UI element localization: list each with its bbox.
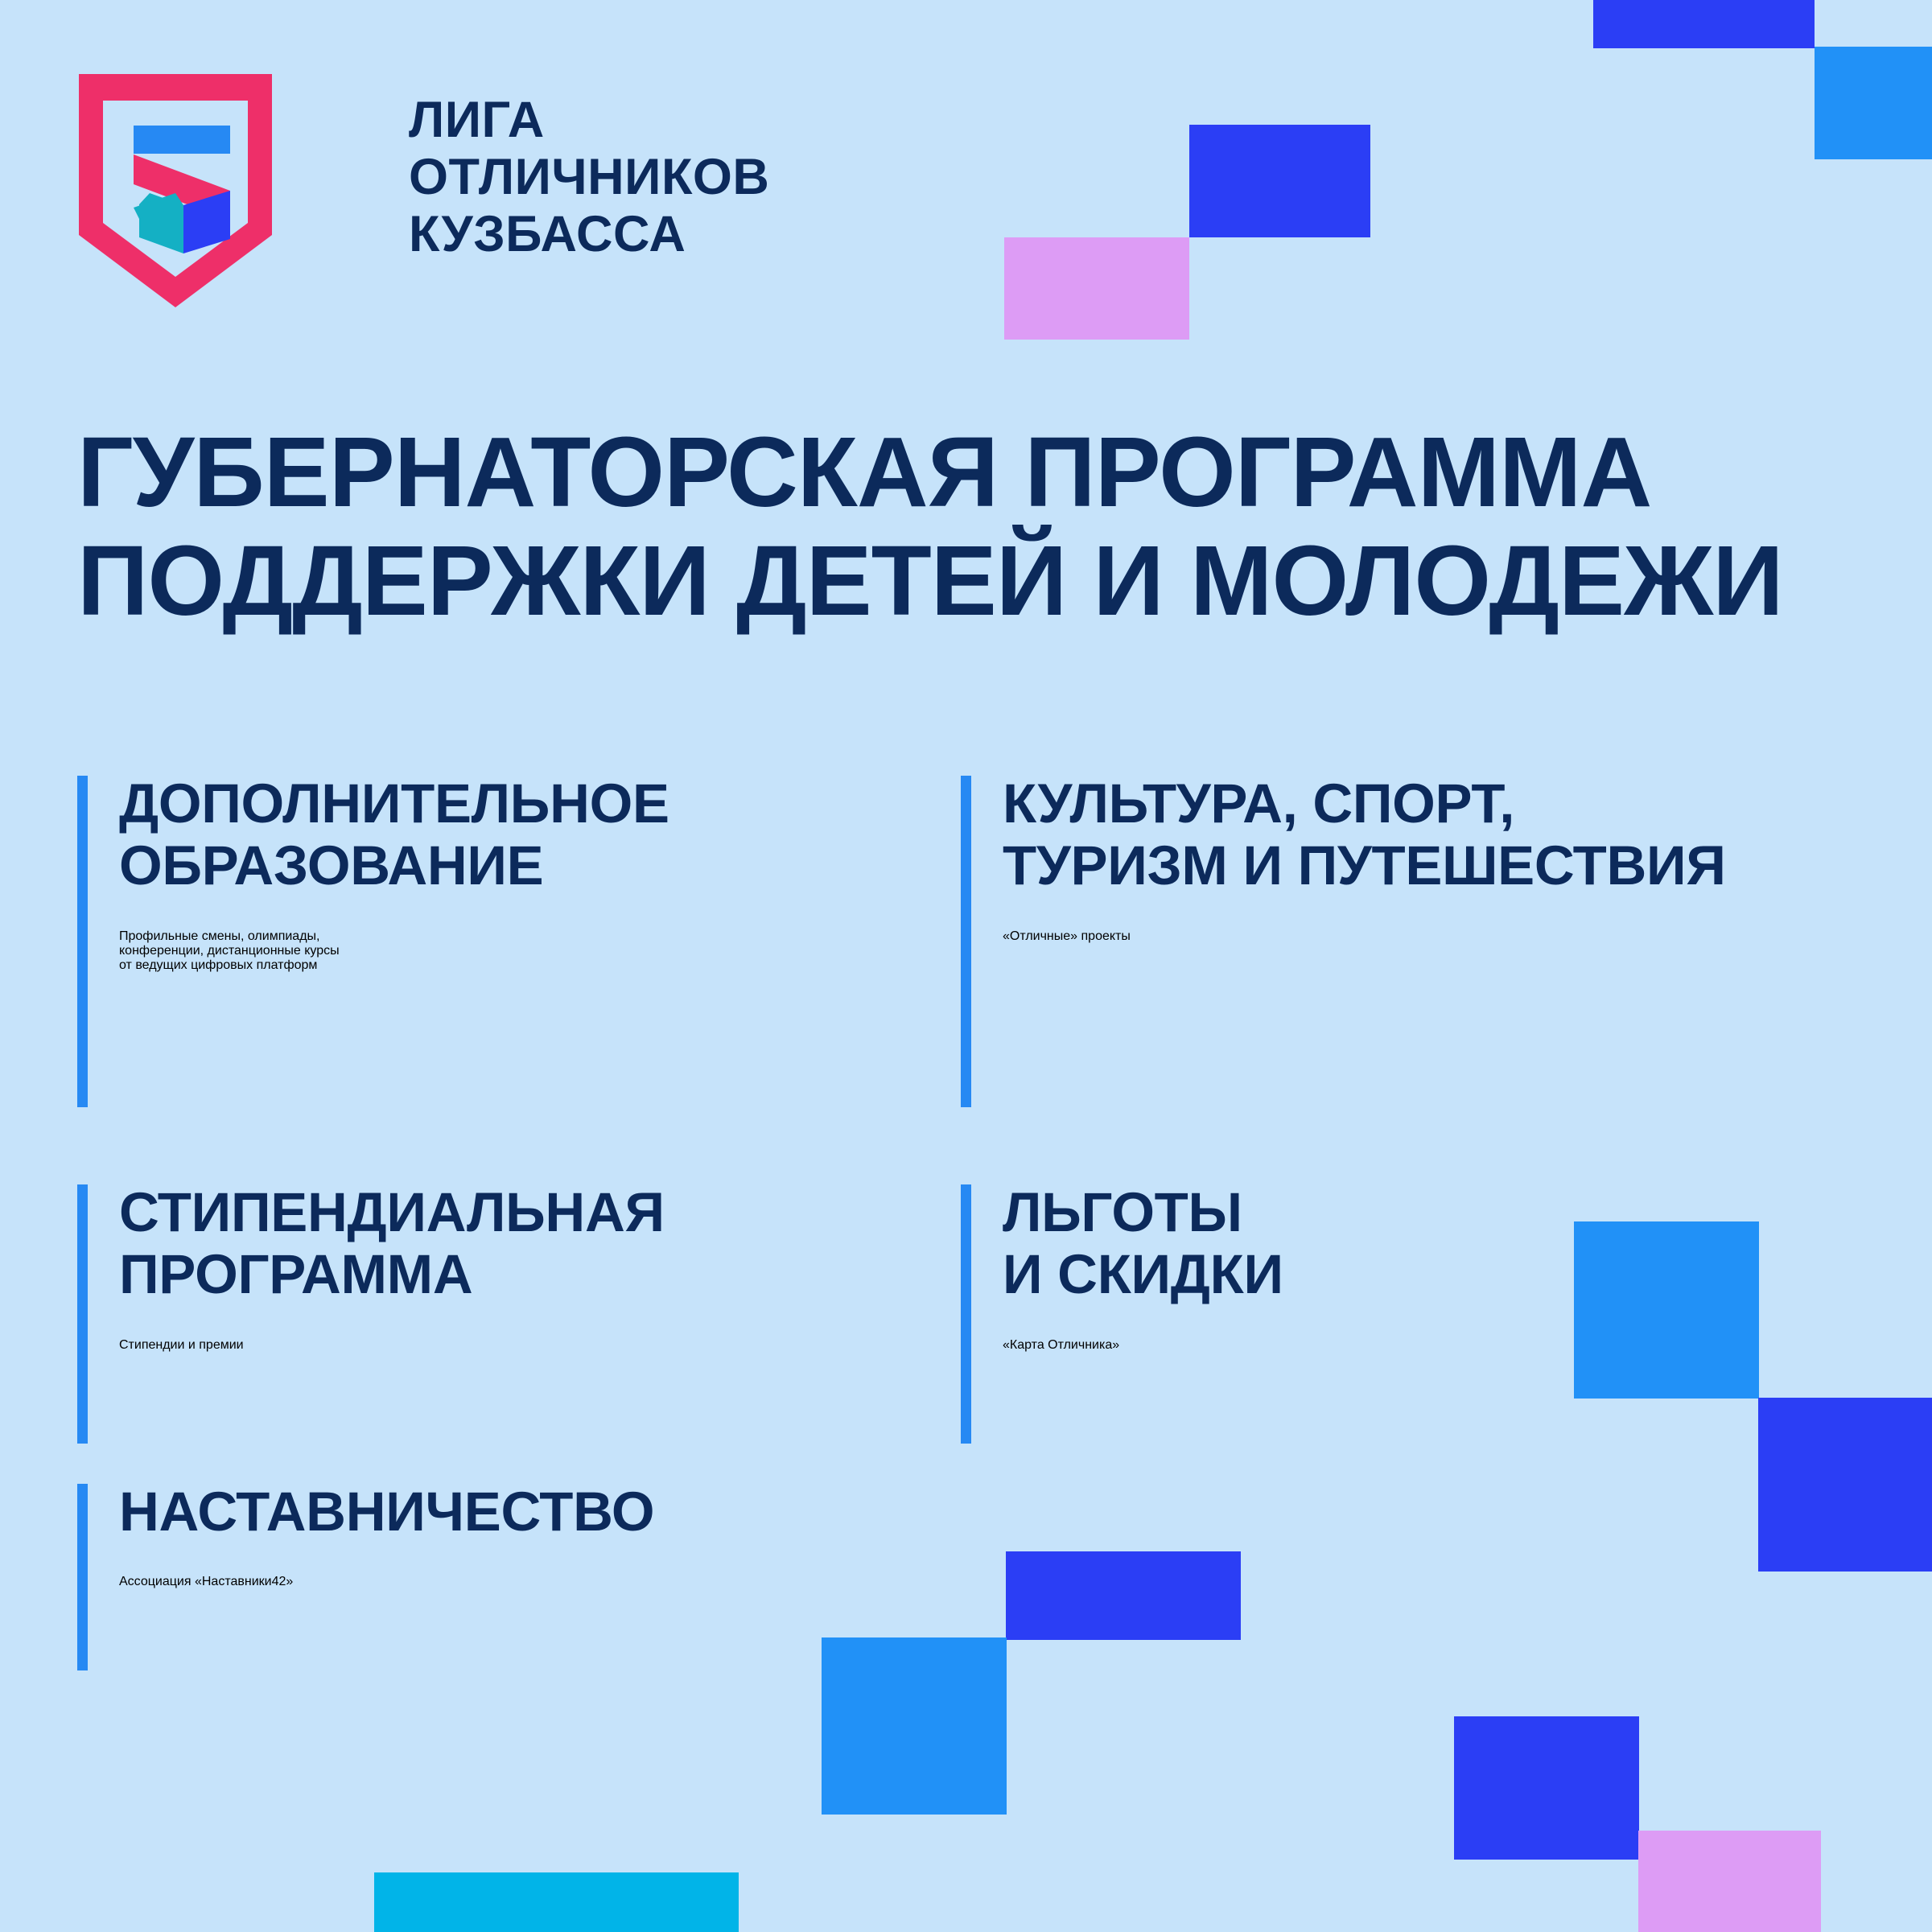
section-culture: КУЛЬТУРА, СПОРТ, ТУРИЗМ И ПУТЕШЕСТВИЯ «О… [961, 772, 1912, 1110]
accent-bar-icon [961, 1184, 971, 1444]
deco-royal-bottom-right [1454, 1716, 1639, 1860]
heading-line: ЛЬГОТЫ [1003, 1181, 1807, 1243]
poster-root: ЛИГА ОТЛИЧНИКОВ КУЗБАССА ГУБЕРНАТОРСКАЯ … [0, 0, 1932, 1932]
heading-line: СТИПЕНДИАЛЬНАЯ [119, 1181, 940, 1243]
page-title-line-2: ПОДДЕРЖКИ ДЕТЕЙ И МОЛОДЕЖИ [77, 527, 1872, 636]
accent-bar-icon [77, 776, 88, 1107]
accent-bar-icon [961, 776, 971, 1107]
body-line: «Отличные» проекты [1003, 929, 1912, 944]
body-line: конференции, дистанционные курсы [119, 944, 940, 958]
heading-line: ТУРИЗМ И ПУТЕШЕСТВИЯ [1003, 834, 1912, 896]
heading-line: И СКИДКИ [1003, 1243, 1807, 1305]
deco-cyan-bottom-left [374, 1872, 739, 1932]
deco-royal-bottom-mid [1006, 1551, 1241, 1640]
section-mentorship-heading: НАСТАВНИЧЕСТВО [119, 1481, 940, 1543]
heading-line: ОБРАЗОВАНИЕ [119, 834, 940, 896]
brand-logo-block: ЛИГА ОТЛИЧНИКОВ КУЗБАССА [79, 74, 769, 307]
accent-bar-icon [77, 1484, 88, 1670]
section-education-heading: ДОПОЛНИТЕЛЬНОЕ ОБРАЗОВАНИЕ [119, 772, 940, 897]
brand-name: ЛИГА ОТЛИЧНИКОВ КУЗБАССА [409, 92, 769, 264]
body-line: «Карта Отличника» [1003, 1338, 1807, 1353]
heading-line: НАСТАВНИЧЕСТВО [119, 1481, 940, 1543]
body-line: Профильные смены, олимпиады, [119, 929, 940, 944]
shield-five-logo-icon [79, 74, 272, 307]
heading-line: ПРОГРАММА [119, 1243, 940, 1305]
deco-blue-top-right-2 [1815, 47, 1932, 159]
section-scholarship: СТИПЕНДИАЛЬНАЯ ПРОГРАММА Стипендии и пре… [77, 1181, 940, 1447]
heading-line: КУЛЬТУРА, СПОРТ, [1003, 772, 1912, 834]
brand-name-line-3: КУЗБАССА [409, 206, 769, 263]
section-scholarship-heading: СТИПЕНДИАЛЬНАЯ ПРОГРАММА [119, 1181, 940, 1306]
body-line: Ассоциация «Наставники42» [119, 1575, 940, 1589]
brand-name-line-2: ОТЛИЧНИКОВ [409, 149, 769, 206]
section-benefits: ЛЬГОТЫ И СКИДКИ «Карта Отличника» [961, 1181, 1807, 1447]
brand-name-line-1: ЛИГА [409, 92, 769, 149]
page-title: ГУБЕРНАТОРСКАЯ ПРОГРАММА ПОДДЕРЖКИ ДЕТЕЙ… [77, 418, 1872, 636]
deco-royal-top-mid [1189, 125, 1370, 237]
section-benefits-heading: ЛЬГОТЫ И СКИДКИ [1003, 1181, 1807, 1306]
deco-violet-bottom-right [1638, 1831, 1821, 1932]
deco-violet-top-mid [1004, 237, 1189, 340]
page-title-line-1: ГУБЕРНАТОРСКАЯ ПРОГРАММА [77, 418, 1872, 527]
body-line: от ведущих цифровых платформ [119, 958, 940, 973]
accent-bar-icon [77, 1184, 88, 1444]
section-culture-heading: КУЛЬТУРА, СПОРТ, ТУРИЗМ И ПУТЕШЕСТВИЯ [1003, 772, 1912, 897]
body-line: Стипендии и премии [119, 1338, 940, 1353]
section-mentorship: НАСТАВНИЧЕСТВО Ассоциация «Наставники42» [77, 1481, 940, 1674]
heading-line: ДОПОЛНИТЕЛЬНОЕ [119, 772, 940, 834]
deco-royal-top-right-1 [1593, 0, 1815, 48]
section-education: ДОПОЛНИТЕЛЬНОЕ ОБРАЗОВАНИЕ Профильные см… [77, 772, 940, 1110]
